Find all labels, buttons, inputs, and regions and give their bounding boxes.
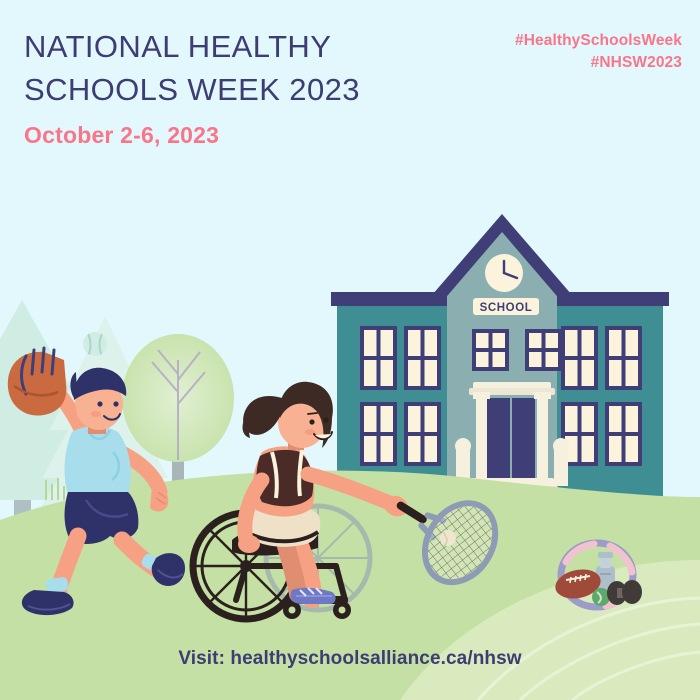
athlete-left-hand xyxy=(238,535,260,553)
poster-date-range: October 2-6, 2023 xyxy=(24,122,219,149)
poster-headline: NATIONAL HEALTHY SCHOOLS WEEK 2023 xyxy=(24,26,454,112)
svg-text:SCHOOL: SCHOOL xyxy=(480,302,533,314)
hashtag-secondary: #NHSW2023 xyxy=(515,52,682,74)
tennis-ball xyxy=(440,530,456,546)
player-shirt xyxy=(65,426,131,504)
poster-visit-url[interactable]: Visit: healthyschoolsalliance.ca/nhsw xyxy=(0,648,700,670)
athlete-leg-back xyxy=(286,546,298,594)
headline-line-2: SCHOOLS WEEK 2023 xyxy=(24,69,454,112)
headline-line-1: NATIONAL HEALTHY xyxy=(24,29,331,64)
poster-hashtags: #HealthySchoolsWeek #NHSW2023 xyxy=(515,30,682,74)
school-sign: SCHOOL xyxy=(473,298,539,315)
poster-canvas: SCHOOL xyxy=(0,0,700,700)
hashtag-primary: #HealthySchoolsWeek xyxy=(515,30,682,52)
building-clock xyxy=(485,254,523,292)
player-front-shoe xyxy=(22,590,74,615)
baseball-ball xyxy=(83,332,107,356)
